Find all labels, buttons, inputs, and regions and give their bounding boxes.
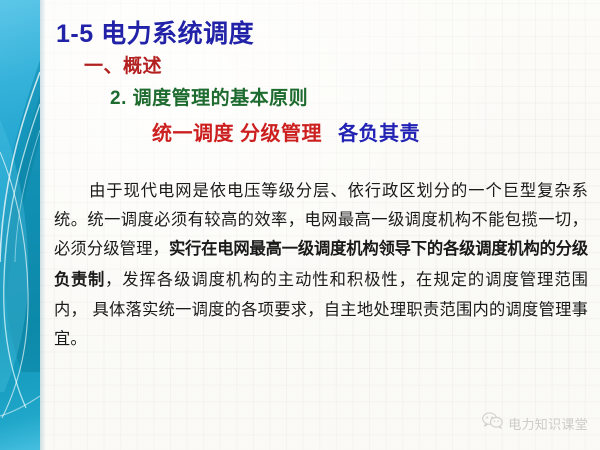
sidebar-swoosh-artwork — [0, 0, 40, 450]
decorative-sidebar-band — [0, 0, 40, 450]
slide-content-area: 1-5 电力系统调度 一、概述 2. 调度管理的基本原则 统一调度 分级管理各负… — [40, 0, 600, 450]
slide-canvas: 1-5 电力系统调度 一、概述 2. 调度管理的基本原则 统一调度 分级管理各负… — [0, 0, 600, 450]
page-title: 1-5 电力系统调度 — [56, 14, 254, 50]
body-segment-normal-2: ，发挥各级调度机构的主动性和积极性，在规定的调度管理范围内， 具体落实统一调度的… — [54, 270, 588, 348]
watermark-label: 电力知识课堂 — [508, 414, 588, 433]
section-heading: 一、概述 — [84, 51, 162, 78]
wechat-logo-icon — [482, 412, 503, 434]
principle-statement: 统一调度 分级管理各负其责 — [152, 117, 420, 146]
body-paragraph: 由于现代电网是依电压等级分层、依行政区划分的一个巨型复杂系统。统一调度必须有较高… — [54, 176, 588, 353]
subsection-heading: 2. 调度管理的基本原则 — [110, 83, 308, 110]
principle-red-text: 统一调度 分级管理 — [152, 123, 322, 145]
principle-blue-text: 各负其责 — [338, 123, 420, 145]
watermark: 电力知识课堂 — [482, 412, 588, 434]
